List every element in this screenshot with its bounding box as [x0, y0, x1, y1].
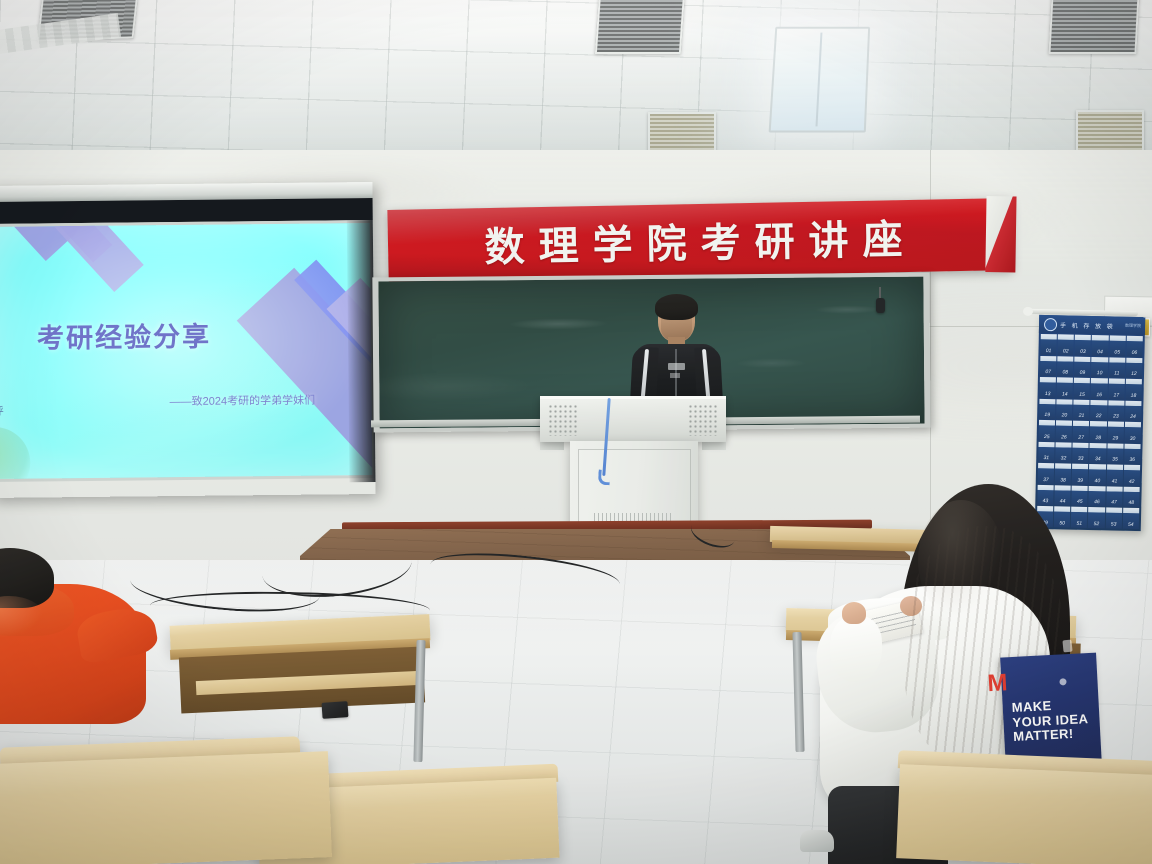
- pocket-cell: 21: [1073, 399, 1090, 420]
- pocket-cell-number: 11: [1114, 371, 1119, 378]
- tote-line-3: MATTER!: [1013, 726, 1097, 745]
- pocket-cell-number: 09: [1080, 370, 1086, 377]
- pocket-cell-number: 23: [1113, 414, 1119, 421]
- pocket-cell: 38: [1055, 464, 1072, 485]
- pocket-cell: 13: [1040, 377, 1057, 398]
- pocket-cell-number: 54: [1128, 522, 1134, 529]
- pocket-cell: 42: [1124, 465, 1141, 486]
- pocket-cell-number: 21: [1079, 413, 1085, 420]
- pocket-cell: 35: [1107, 443, 1124, 464]
- pocket-cell-number: 33: [1078, 456, 1084, 463]
- jacket-logo-sub: [670, 373, 680, 378]
- pocket-cell-number: 17: [1113, 392, 1119, 399]
- wall-mounted-sensor-icon: [876, 298, 885, 313]
- pocket-cell: 14: [1057, 377, 1074, 398]
- pocket-cell-number: 22: [1096, 413, 1102, 420]
- banner-fold: [985, 196, 1016, 272]
- classroom-photo: Projector 考研经验分享 ——致2024考研的学弟学妹们 召呼 究生: [0, 0, 1152, 864]
- pocket-cell: 01: [1040, 334, 1057, 355]
- pocket-cell: 10: [1091, 357, 1108, 378]
- pocket-cell: 40: [1089, 464, 1106, 485]
- screen-shadow-edge: [347, 220, 376, 482]
- pocket-cell-number: 19: [1044, 412, 1050, 419]
- pocket-cell: 05: [1109, 335, 1126, 356]
- pocket-cell: 08: [1057, 356, 1074, 377]
- speaker-grille-icon: [548, 404, 578, 436]
- pocket-cell-number: 36: [1129, 457, 1135, 464]
- pocket-cell-number: 28: [1095, 435, 1101, 442]
- pocket-cell: 11: [1109, 357, 1126, 378]
- pocket-cell-number: 15: [1079, 391, 1085, 398]
- pocket-cell: 30: [1124, 422, 1141, 443]
- pocket-cell: 20: [1056, 399, 1073, 420]
- pocket-cell: 29: [1107, 422, 1124, 443]
- desk-right-row2: [896, 764, 1152, 864]
- tote-bag-dot: [1059, 678, 1066, 685]
- pocket-cell: 15: [1074, 378, 1091, 399]
- pocket-cell-number: 13: [1045, 391, 1051, 398]
- banner-char: 研: [754, 209, 796, 268]
- pocket-cell: 39: [1072, 464, 1089, 485]
- pocket-cell-number: 40: [1094, 478, 1100, 485]
- jacket-logo: [668, 363, 685, 370]
- podium-top: [540, 396, 726, 442]
- pocket-cell: 18: [1125, 379, 1142, 400]
- banner-text: 数 理 学 院 考 研 讲 座: [387, 198, 1000, 282]
- banner-char: 数: [484, 214, 526, 273]
- pocket-cell-number: 29: [1113, 435, 1119, 442]
- school-emblem-icon: [1044, 318, 1057, 331]
- banner-char: 讲: [808, 208, 850, 267]
- pocket-cell-number: 48: [1128, 500, 1134, 507]
- projection-screen: 考研经验分享 ——致2024考研的学弟学妹们 召呼 究生: [0, 182, 376, 498]
- pocket-cell-number: 01: [1046, 348, 1052, 355]
- tote-bag-handle: [1062, 640, 1072, 653]
- pocket-cell: 27: [1073, 421, 1090, 442]
- pocket-cell-number: 42: [1129, 479, 1135, 486]
- banner-char: 座: [862, 207, 904, 266]
- pocket-cell-number: 20: [1062, 413, 1068, 420]
- tote-bag-text: MAKE YOUR IDEA MATTER!: [1011, 697, 1096, 745]
- student-right-sleeve-cuff: [830, 616, 882, 682]
- pocket-cell: 09: [1074, 356, 1091, 377]
- pocket-cell: 25: [1039, 420, 1056, 441]
- pocket-cell-number: 02: [1063, 348, 1069, 355]
- pocket-cell: 04: [1092, 335, 1109, 356]
- pocket-cell-number: 35: [1112, 457, 1118, 464]
- pocket-cell-number: 30: [1130, 436, 1136, 443]
- pocket-cell: 17: [1108, 378, 1125, 399]
- pocket-cell: 34: [1090, 443, 1107, 464]
- pocket-cell-number: 07: [1045, 369, 1051, 376]
- slide-side-text-top: 召呼: [0, 403, 4, 419]
- pocket-cell-number: 41: [1112, 478, 1118, 485]
- smartphone-on-shelf: [321, 701, 348, 719]
- pocket-cell: 28: [1090, 421, 1107, 442]
- student-right-shoe: [800, 830, 834, 852]
- pocket-cell-number: 34: [1095, 456, 1101, 463]
- pocket-cell-number: 08: [1062, 370, 1068, 377]
- presentation-slide: 考研经验分享 ——致2024考研的学弟学妹们 召呼 究生: [0, 223, 372, 479]
- pocket-cell: 03: [1075, 335, 1092, 356]
- pocket-cell-number: 06: [1132, 349, 1138, 356]
- pocket-cell-number: 18: [1131, 393, 1137, 400]
- pocket-cell: 37: [1038, 463, 1055, 484]
- pocket-cell-number: 39: [1077, 478, 1083, 485]
- pocket-cell-number: 24: [1130, 414, 1136, 421]
- pocket-cell-number: 32: [1061, 456, 1067, 463]
- pocket-cell: 19: [1039, 399, 1056, 420]
- pocket-cell-number: 26: [1061, 434, 1067, 441]
- pocket-cell: 41: [1106, 465, 1123, 486]
- student-left: [0, 548, 166, 728]
- pocket-cell-number: 27: [1078, 435, 1084, 442]
- desk-left-row2: [0, 751, 332, 864]
- pocket-cell-number: 37: [1043, 477, 1049, 484]
- pocket-cell: 32: [1055, 442, 1072, 463]
- slide-subtitle: ——致2024考研的学弟学妹们: [170, 392, 316, 410]
- banner-char: 院: [646, 211, 688, 270]
- pocket-cell: 12: [1126, 357, 1143, 378]
- student-right-hand: [842, 602, 866, 624]
- banner-char: 考: [700, 210, 742, 269]
- pocket-chart-subtitle: 数理学院: [1125, 323, 1141, 329]
- pocket-cell-number: 16: [1096, 392, 1102, 399]
- pocket-cell-number: 14: [1062, 391, 1068, 398]
- banner-char: 学: [592, 212, 634, 271]
- pocket-cell-number: 31: [1043, 455, 1049, 462]
- presenter-hair: [655, 294, 698, 320]
- pocket-cell: 06: [1126, 336, 1143, 357]
- pocket-cell: 33: [1072, 442, 1089, 463]
- pocket-cell: 24: [1125, 400, 1142, 421]
- tote-bag: M MAKE YOUR IDEA MATTER!: [1000, 653, 1102, 770]
- pocket-cell: 54: [1123, 508, 1140, 529]
- pocket-chart-header: 手 机 存 放 袋 数理学院: [1039, 315, 1145, 335]
- pocket-cell-number: 38: [1060, 477, 1066, 484]
- pocket-chart-title: 手 机 存 放 袋: [1060, 320, 1115, 330]
- pocket-cell-number: 12: [1131, 371, 1137, 378]
- pocket-cell-number: 25: [1044, 434, 1050, 441]
- pocket-cell: 36: [1124, 443, 1141, 464]
- pocket-cell-number: 10: [1097, 370, 1103, 377]
- pocket-cell: 31: [1038, 442, 1055, 463]
- event-banner: 数 理 学 院 考 研 讲 座: [387, 198, 1012, 282]
- pocket-cell-number: 05: [1114, 349, 1120, 356]
- pocket-cell: 22: [1091, 400, 1108, 421]
- pocket-cell: 07: [1040, 355, 1057, 376]
- tote-bag-letter-m: M: [987, 669, 1012, 696]
- pocket-cell: 02: [1058, 334, 1075, 355]
- pocket-cell-number: 04: [1097, 349, 1103, 356]
- slide-title: 考研经验分享: [37, 315, 211, 356]
- pocket-cell: 16: [1091, 378, 1108, 399]
- speaker-grille-icon: [688, 404, 718, 436]
- pocket-cell: 48: [1123, 487, 1140, 508]
- pocket-cell: 26: [1056, 421, 1073, 442]
- pocket-cell: 23: [1108, 400, 1125, 421]
- banner-char: 理: [538, 213, 580, 272]
- pocket-cell-number: 03: [1080, 348, 1086, 355]
